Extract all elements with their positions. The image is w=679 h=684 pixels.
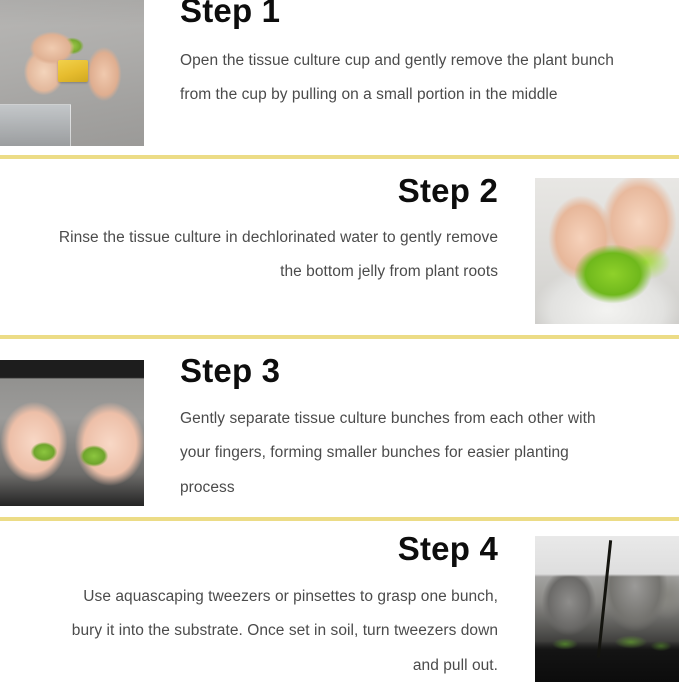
divider-3 [0,517,679,521]
step-3-description: Gently separate tissue culture bunches f… [180,402,620,505]
step-row-1: Step 1 Open the tissue culture cup and g… [0,0,679,152]
step-4-title: Step 4 [55,530,498,569]
step-row-2: Step 2 Rinse the tissue culture in dechl… [0,164,679,332]
step-2-description: Rinse the tissue culture in dechlorinate… [58,221,498,290]
step-1-text-block: Step 1 Open the tissue culture cup and g… [180,0,620,113]
step-1-title: Step 1 [180,0,620,31]
step-2-image [535,178,679,324]
step-2-title: Step 2 [58,172,498,211]
step-3-image [0,360,144,506]
step-3-text-block: Step 3 Gently separate tissue culture bu… [180,352,620,505]
steps-infographic: Step 1 Open the tissue culture cup and g… [0,0,679,684]
step-4-text-block: Step 4 Use aquascaping tweezers or pinse… [55,530,498,683]
step-3-title: Step 3 [180,352,620,391]
step-4-description: Use aquascaping tweezers or pinsettes to… [55,580,498,683]
photo-aquascape-rocks-substrate [535,536,679,682]
step-2-text-block: Step 2 Rinse the tissue culture in dechl… [58,172,498,290]
step-1-description: Open the tissue culture cup and gently r… [180,44,620,113]
divider-1 [0,155,679,159]
step-1-image [0,0,144,146]
photo-hands-opening-tissue-culture-cup [0,0,144,146]
divider-2 [0,335,679,339]
step-4-image [535,536,679,682]
photo-hands-rinsing-plant-in-bowl [535,178,679,324]
step-row-3: Step 3 Gently separate tissue culture bu… [0,346,679,514]
step-row-4: Step 4 Use aquascaping tweezers or pinse… [0,528,679,684]
photo-hands-separating-bunches [0,360,144,506]
